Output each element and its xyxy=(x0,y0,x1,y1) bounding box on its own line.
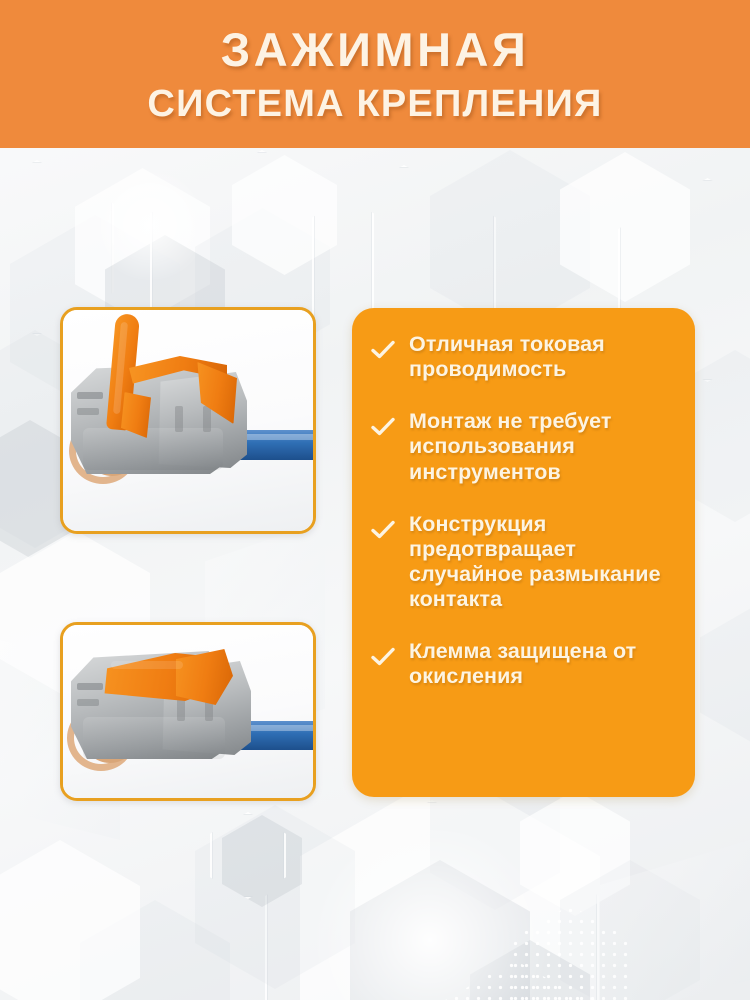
feature-label: Монтаж не требует использования инструме… xyxy=(409,409,677,484)
check-icon xyxy=(370,517,396,543)
feature-item: Отличная токовая проводимость xyxy=(370,332,677,382)
housing-slot xyxy=(175,406,183,432)
feature-label: Клемма защищена от окисления xyxy=(409,639,677,689)
product-photo-closed xyxy=(63,625,313,798)
product-photo-card-closed[interactable] xyxy=(60,622,316,801)
product-photo-open xyxy=(63,310,313,531)
feature-label: Конструкция предотвращает случайное разм… xyxy=(409,512,677,613)
housing-slot xyxy=(77,683,103,690)
light-glow xyxy=(90,170,210,280)
connector-shadow xyxy=(83,717,225,759)
feature-label: Отличная токовая проводимость xyxy=(409,332,677,382)
features-list: Отличная токовая проводимость Монтаж не … xyxy=(370,332,677,690)
lever-highlight xyxy=(111,661,183,669)
housing-slot xyxy=(77,408,99,415)
check-icon xyxy=(370,644,396,670)
check-icon xyxy=(370,337,396,363)
feature-item: Монтаж не требует использования инструме… xyxy=(370,409,677,484)
feature-item: Клемма защищена от окисления xyxy=(370,639,677,689)
features-panel: Отличная токовая проводимость Монтаж не … xyxy=(352,308,695,797)
housing-slot xyxy=(203,406,211,432)
check-icon xyxy=(370,414,396,440)
housing-slot xyxy=(77,699,99,706)
header-banner: ЗАЖИМНАЯ СИСТЕМА КРЕПЛЕНИЯ xyxy=(0,0,750,148)
infographic-page: ЗАЖИМНАЯ СИСТЕМА КРЕПЛЕНИЯ xyxy=(0,0,750,1000)
hexagon-shape xyxy=(0,840,140,1000)
feature-item: Конструкция предотвращает случайное разм… xyxy=(370,512,677,613)
connector-shadow xyxy=(83,428,223,470)
page-title: ЗАЖИМНАЯ xyxy=(221,26,529,73)
page-subtitle: СИСТЕМА КРЕПЛЕНИЯ xyxy=(147,85,602,123)
product-photo-card-open[interactable] xyxy=(60,307,316,534)
hexagon-shape xyxy=(700,600,750,750)
housing-slot xyxy=(77,392,103,399)
